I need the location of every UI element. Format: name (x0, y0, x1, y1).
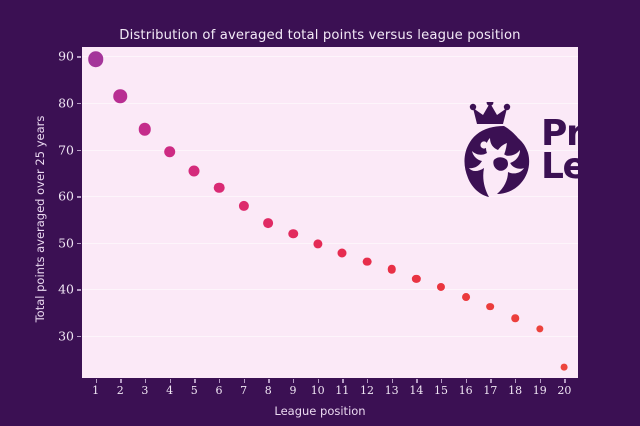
x-axis-tick-label: 17 (477, 384, 503, 397)
scatter-point (387, 265, 396, 274)
x-axis-tick-mark (490, 379, 491, 383)
x-axis-tick-mark (540, 379, 541, 383)
scatter-point (412, 275, 420, 283)
y-axis-tick-label: 40 (34, 282, 74, 297)
scatter-point (214, 183, 225, 194)
scatter-point (164, 146, 176, 158)
premier-league-logo: Premier League (457, 99, 578, 201)
scatter-point (239, 200, 249, 210)
x-axis-tick-label: 2 (107, 384, 133, 397)
x-axis-tick-mark (392, 379, 393, 383)
scatter-point (113, 89, 127, 103)
y-axis-tick-label: 70 (34, 142, 74, 157)
premier-league-wordmark: Premier League (541, 117, 578, 183)
x-axis-tick-label: 15 (428, 384, 454, 397)
y-axis-title: Total points averaged over 25 years (33, 69, 47, 369)
x-axis-tick-label: 1 (83, 384, 109, 397)
x-axis-tick-label: 13 (379, 384, 405, 397)
scatter-point (487, 303, 495, 311)
x-axis-tick-mark (318, 379, 319, 383)
gridline (82, 289, 578, 290)
scatter-point (462, 293, 470, 301)
x-axis-tick-label: 20 (551, 384, 577, 397)
y-axis-tick-label: 90 (34, 49, 74, 64)
x-axis-tick-mark (268, 379, 269, 383)
y-axis-tick-label: 30 (34, 329, 74, 344)
chart-title: Distribution of averaged total points ve… (0, 28, 640, 43)
scatter-point (561, 363, 568, 370)
x-axis-tick-label: 5 (181, 384, 207, 397)
y-axis-tick-mark (77, 196, 81, 197)
x-axis-tick-mark (170, 379, 171, 383)
gridline (82, 56, 578, 57)
chart-figure: Distribution of averaged total points ve… (0, 0, 640, 426)
x-axis-tick-mark (441, 379, 442, 383)
x-axis-tick-label: 9 (280, 384, 306, 397)
x-axis-tick-label: 3 (132, 384, 158, 397)
x-axis-title: League position (0, 404, 640, 418)
logo-line-league: League (541, 150, 578, 183)
x-axis-tick-label: 8 (255, 384, 281, 397)
x-axis-tick-mark (145, 379, 146, 383)
x-axis-tick-label: 18 (502, 384, 528, 397)
y-axis-tick-label: 60 (34, 189, 74, 204)
scatter-point (139, 123, 152, 136)
y-axis-tick-mark (77, 150, 81, 151)
x-axis-tick-mark (416, 379, 417, 383)
x-axis-tick-mark (367, 379, 368, 383)
x-axis-tick-label: 7 (231, 384, 257, 397)
x-axis-tick-label: 6 (206, 384, 232, 397)
y-axis-tick-label: 80 (34, 95, 74, 110)
scatter-point (189, 165, 200, 176)
lion-crown-icon (457, 102, 535, 198)
gridline (82, 336, 578, 337)
x-axis-tick-mark (515, 379, 516, 383)
y-axis-tick-mark (77, 336, 81, 337)
y-axis-tick-mark (77, 243, 81, 244)
y-axis-tick-mark (77, 289, 81, 290)
plot-area: Premier League (82, 47, 578, 378)
scatter-point (263, 218, 273, 228)
scatter-point (363, 257, 372, 266)
x-axis-tick-mark (194, 379, 195, 383)
x-axis-tick-mark (342, 379, 343, 383)
x-axis-tick-mark (219, 379, 220, 383)
y-axis-tick-mark (77, 103, 81, 104)
x-axis-tick-mark (564, 379, 565, 383)
x-axis-tick-mark (466, 379, 467, 383)
x-axis-tick-label: 12 (354, 384, 380, 397)
gridline (82, 243, 578, 244)
x-axis-tick-label: 14 (403, 384, 429, 397)
x-axis-tick-label: 16 (453, 384, 479, 397)
x-axis-tick-label: 4 (157, 384, 183, 397)
x-axis-tick-mark (120, 379, 121, 383)
scatter-point (88, 51, 104, 67)
x-axis-tick-mark (293, 379, 294, 383)
scatter-point (288, 229, 298, 239)
scatter-point (511, 315, 519, 323)
scatter-point (338, 249, 347, 258)
scatter-point (536, 325, 543, 332)
x-axis-tick-label: 10 (305, 384, 331, 397)
x-axis-tick-label: 19 (527, 384, 553, 397)
y-axis-tick-mark (77, 56, 81, 57)
x-axis-tick-label: 11 (329, 384, 355, 397)
x-axis-tick-mark (96, 379, 97, 383)
x-axis-tick-mark (244, 379, 245, 383)
y-axis-tick-label: 50 (34, 235, 74, 250)
scatter-point (313, 239, 322, 248)
